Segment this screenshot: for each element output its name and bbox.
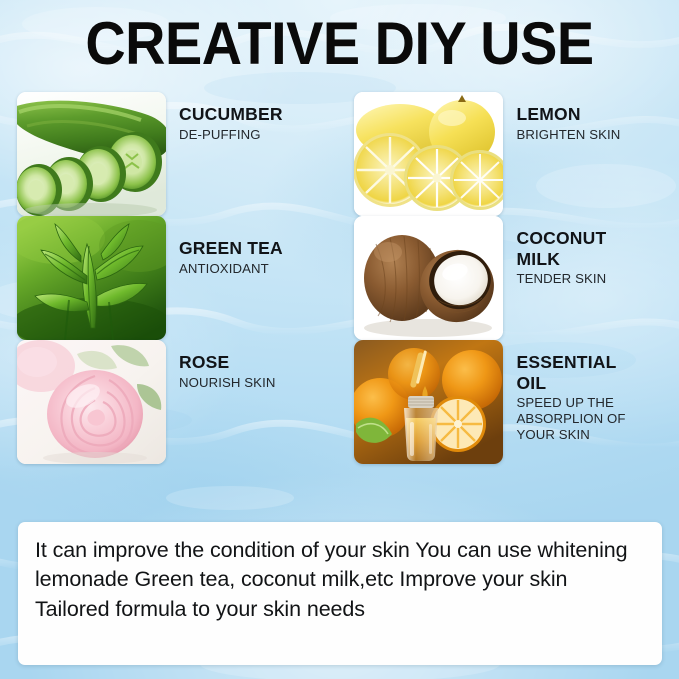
ingredient-text: ROSE NOURISH SKIN	[166, 340, 275, 391]
ingredient-benefit: ANTIOXIDANT	[179, 261, 283, 277]
ingredient-grid: CUCUMBER DE-PUFFING	[0, 92, 679, 464]
description-text: It can improve the condition of your ski…	[35, 536, 645, 624]
ingredient-row: GREEN TEA ANTIOXIDANT	[0, 216, 679, 340]
ingredient-item-essential-oil[interactable]: ESSENTIAL OIL SPEED UP THE ABSORPLION OF…	[342, 340, 679, 464]
ingredient-text: GREEN TEA ANTIOXIDANT	[166, 216, 283, 277]
ingredient-item-cucumber[interactable]: CUCUMBER DE-PUFFING	[0, 92, 342, 216]
ingredient-benefit: TENDER SKIN	[516, 271, 606, 287]
cucumber-photo	[17, 92, 166, 216]
ingredient-text: LEMON BRIGHTEN SKIN	[503, 92, 620, 143]
coconut-photo	[354, 216, 503, 340]
ingredient-name: COCONUT MILK	[516, 228, 606, 269]
ingredient-text: CUCUMBER DE-PUFFING	[166, 92, 283, 143]
ingredient-name: LEMON	[516, 104, 620, 125]
ingredient-benefit: NOURISH SKIN	[179, 375, 275, 391]
ingredient-name: CUCUMBER	[179, 104, 283, 125]
ingredient-benefit: DE-PUFFING	[179, 127, 283, 143]
ingredient-row: ROSE NOURISH SKIN	[0, 340, 679, 464]
ingredient-benefit: SPEED UP THE ABSORPLION OF YOUR SKIN	[516, 395, 625, 443]
ingredient-benefit: BRIGHTEN SKIN	[516, 127, 620, 143]
ingredient-name: ROSE	[179, 352, 275, 373]
rose-photo	[17, 340, 166, 464]
ingredient-name: GREEN TEA	[179, 238, 283, 259]
description-card: It can improve the condition of your ski…	[18, 522, 662, 665]
ingredient-text: COCONUT MILK TENDER SKIN	[503, 216, 606, 287]
ingredient-item-lemon[interactable]: LEMON BRIGHTEN SKIN	[342, 92, 679, 216]
ingredient-row: CUCUMBER DE-PUFFING	[0, 92, 679, 216]
page-title: CREATIVE DIY USE	[24, 12, 655, 75]
infographic-canvas: CREATIVE DIY USE	[0, 0, 679, 679]
essential-oil-photo	[354, 340, 503, 464]
green-tea-photo	[17, 216, 166, 340]
ingredient-text: ESSENTIAL OIL SPEED UP THE ABSORPLION OF…	[503, 340, 625, 444]
ingredient-item-rose[interactable]: ROSE NOURISH SKIN	[0, 340, 342, 464]
ingredient-item-green-tea[interactable]: GREEN TEA ANTIOXIDANT	[0, 216, 342, 340]
ingredient-name: ESSENTIAL OIL	[516, 352, 625, 393]
lemon-photo	[354, 92, 503, 216]
ingredient-item-coconut-milk[interactable]: COCONUT MILK TENDER SKIN	[342, 216, 679, 340]
